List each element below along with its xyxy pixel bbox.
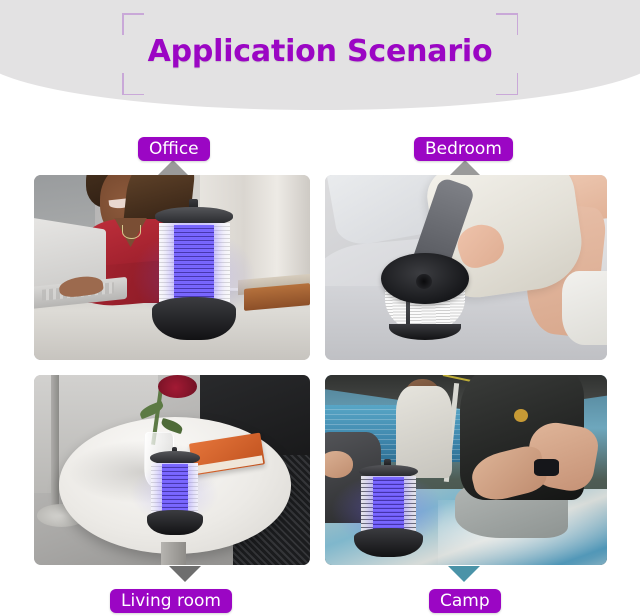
scenario-label-office: Office — [138, 137, 210, 161]
scenario-photo-living-room — [34, 375, 310, 565]
corner-bracket-bottom-left-icon — [122, 73, 144, 95]
product-lamp-living-room — [150, 447, 200, 534]
page-title: Application Scenario — [0, 34, 640, 69]
pointer-bedroom-icon — [449, 160, 481, 176]
product-lamp-camp — [359, 459, 418, 558]
scenario-photo-bedroom — [325, 175, 607, 360]
product-lamp-office — [155, 199, 232, 340]
pointer-living-room-icon — [169, 566, 201, 582]
corner-bracket-top-right-icon — [496, 13, 518, 35]
product-lamp-bedroom — [381, 253, 468, 342]
corner-bracket-bottom-right-icon — [496, 73, 518, 95]
page-header: Application Scenario — [0, 0, 640, 112]
pointer-office-icon — [157, 160, 189, 176]
scenario-photo-office — [34, 175, 310, 360]
pointer-camp-icon — [448, 566, 480, 582]
scenario-label-camp: Camp — [429, 589, 501, 613]
corner-bracket-top-left-icon — [122, 13, 144, 35]
scenario-photo-camp — [325, 375, 607, 565]
scenario-label-bedroom: Bedroom — [414, 137, 513, 161]
scenario-label-living-room: Living room — [110, 589, 232, 613]
